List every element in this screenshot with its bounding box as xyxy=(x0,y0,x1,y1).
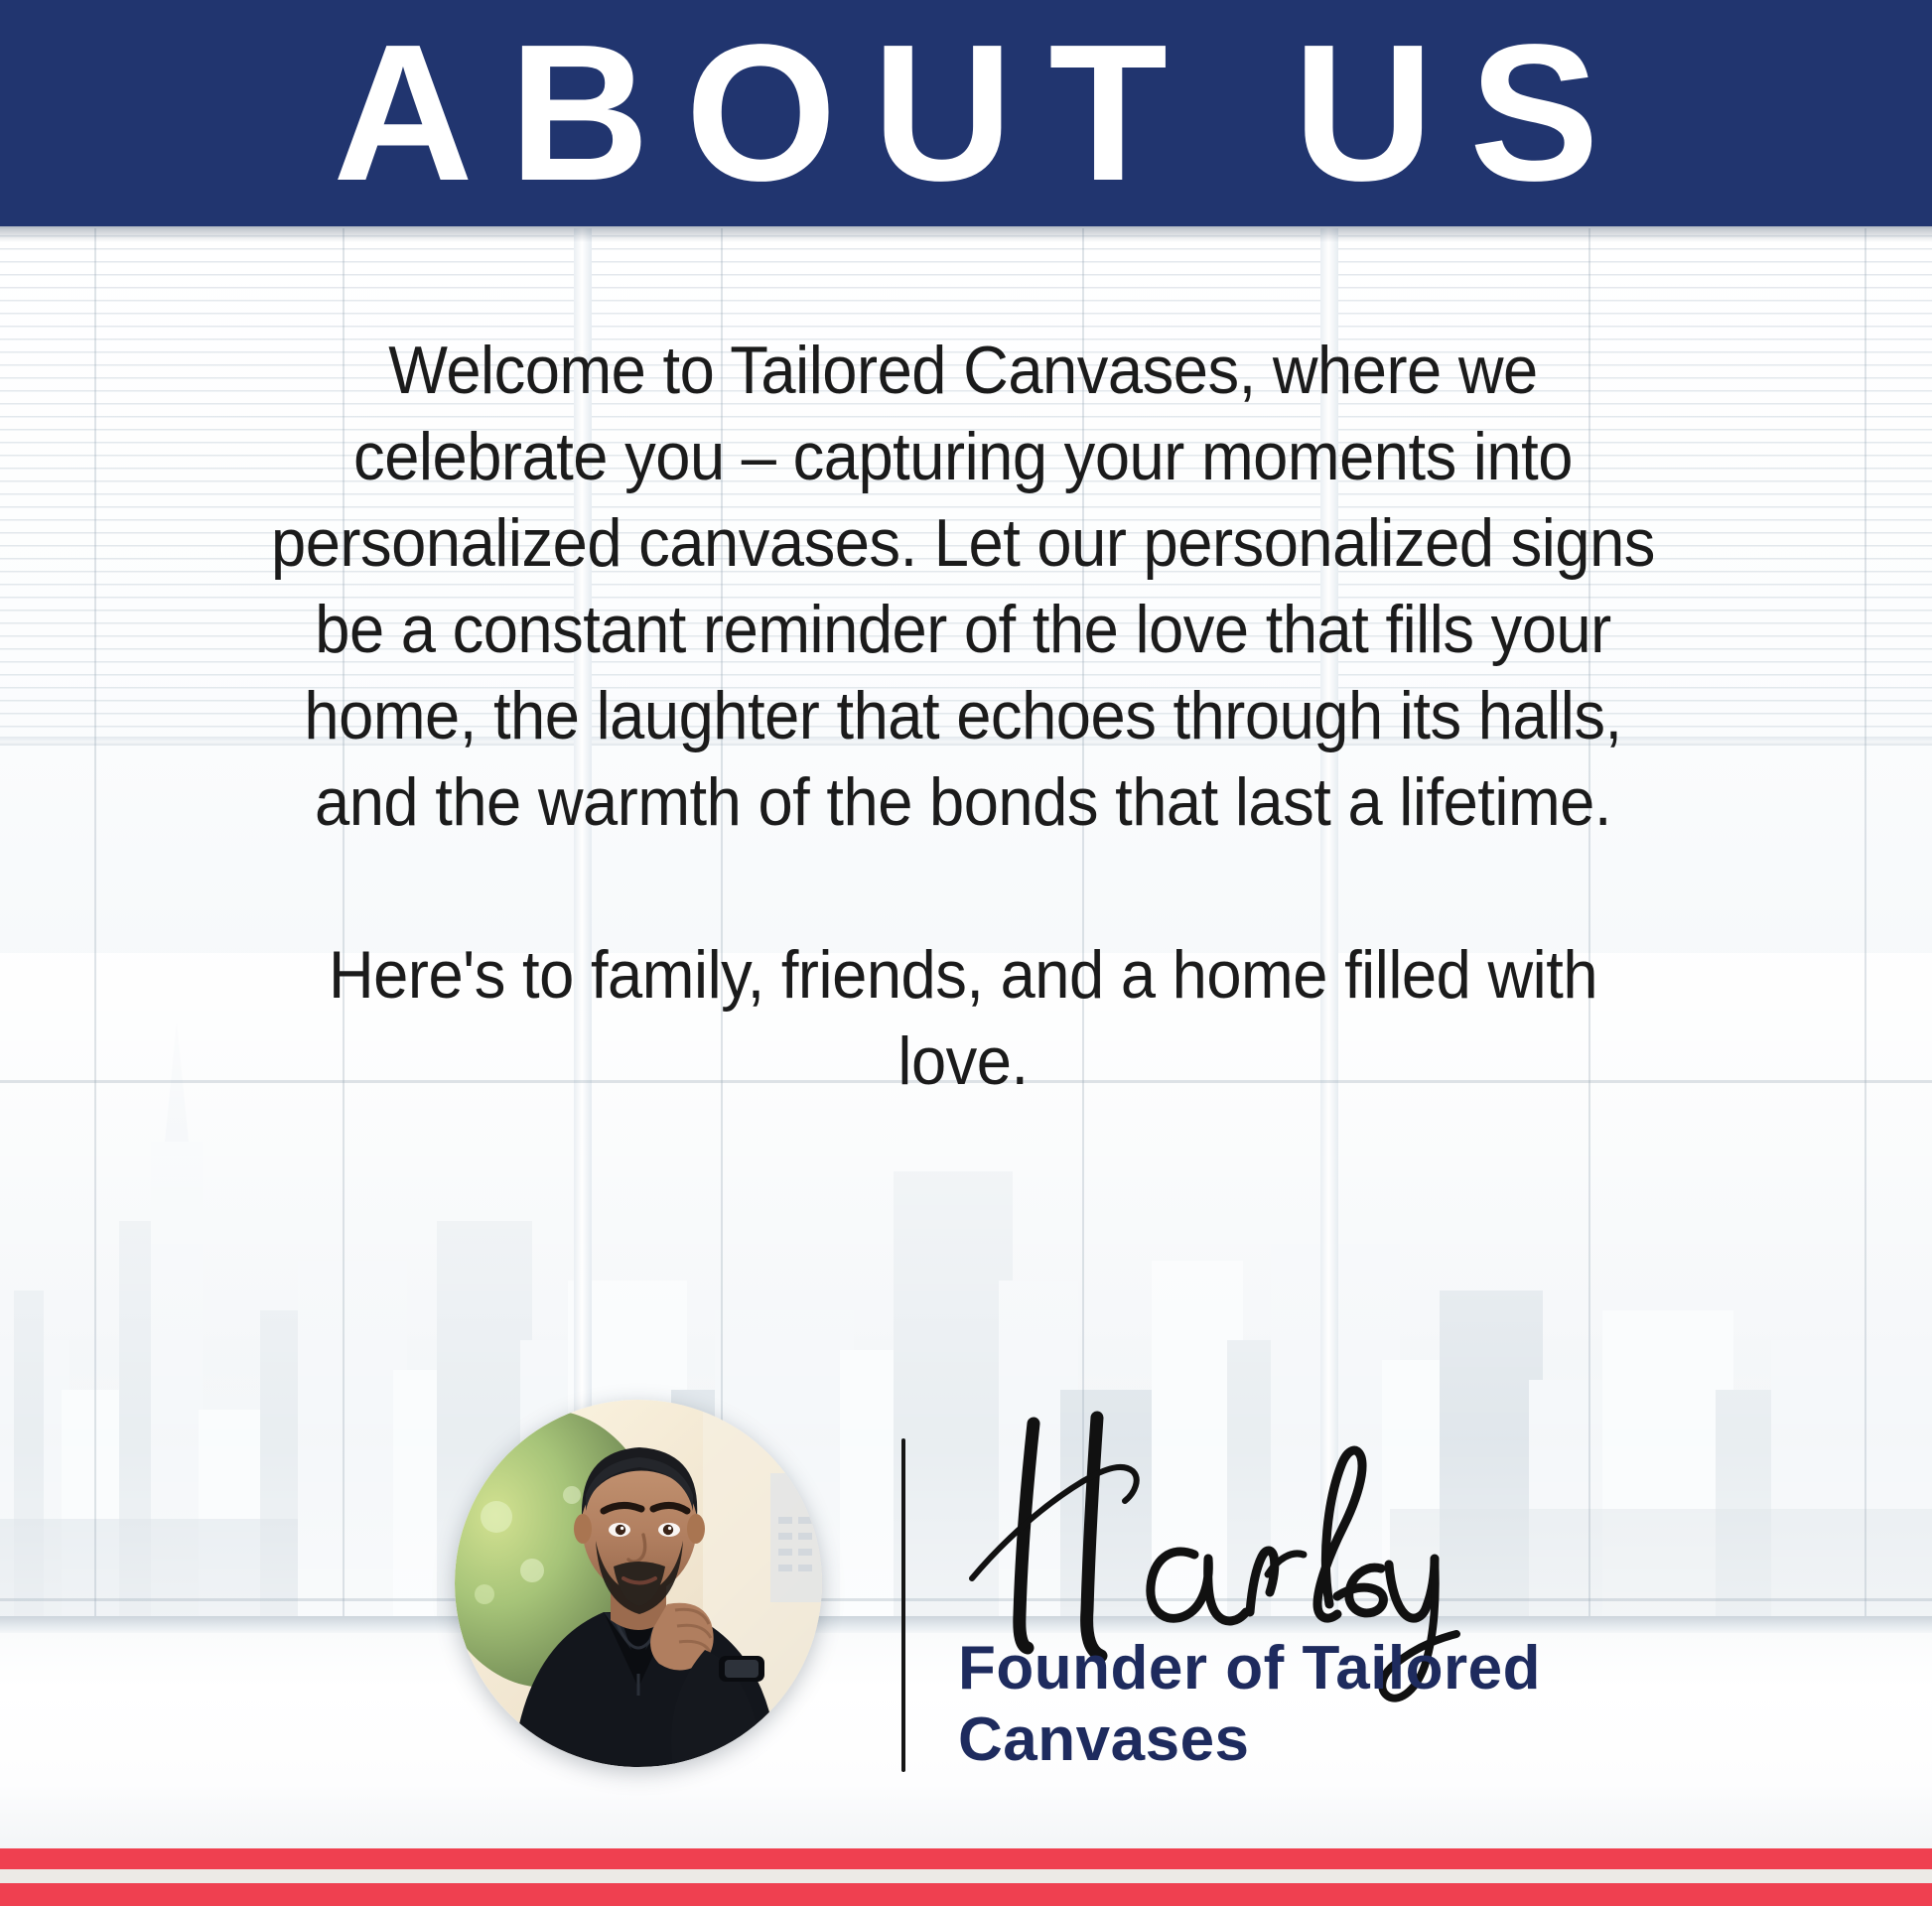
page-title: ABOUT US xyxy=(297,16,1635,210)
avatar xyxy=(455,1400,822,1767)
founder-role-line-2: Canvases xyxy=(958,1704,1653,1776)
page-header-banner: ABOUT US xyxy=(0,0,1932,226)
founder-role: Founder of Tailored Canvases xyxy=(958,1633,1653,1776)
founder-role-line-1: Founder of Tailored xyxy=(958,1633,1653,1704)
footer-stripe-bottom xyxy=(0,1883,1932,1906)
about-copy: Welcome to Tailored Canvases, where we c… xyxy=(261,328,1665,1105)
paragraph-spacer xyxy=(261,846,1665,932)
footer-stripe-gap xyxy=(0,1869,1932,1883)
banner-drop-shadow xyxy=(0,226,1932,242)
about-paragraph-1: Welcome to Tailored Canvases, where we c… xyxy=(261,328,1665,846)
about-us-poster: ABOUT US Welcome to Tailored Canvases, w… xyxy=(0,0,1932,1906)
window-mullion xyxy=(1864,228,1866,1638)
window-mullion xyxy=(94,228,96,1638)
founder-divider xyxy=(901,1438,905,1772)
about-paragraph-2: Here's to family, friends, and a home fi… xyxy=(261,932,1665,1105)
footer-stripe-top xyxy=(0,1848,1932,1869)
